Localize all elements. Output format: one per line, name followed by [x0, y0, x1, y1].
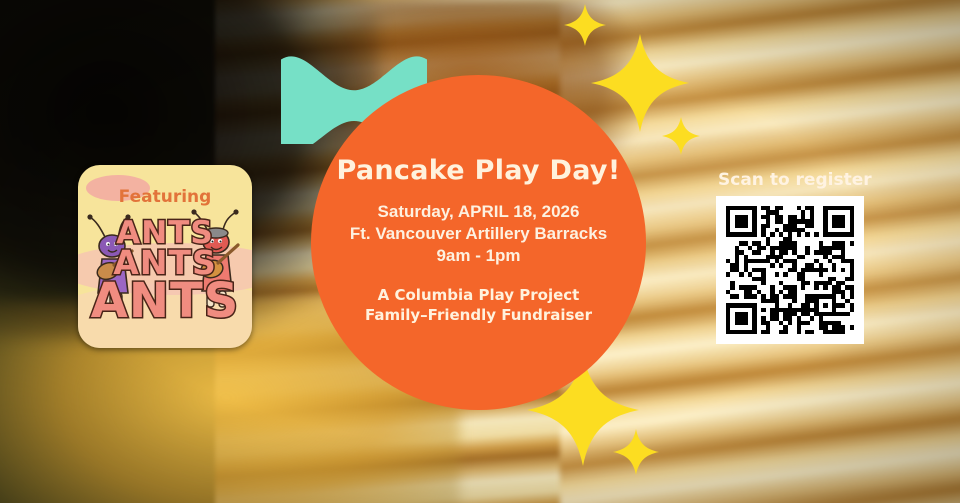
event-info-circle: Pancake Play Day! Saturday, APRIL 18, 20…	[311, 75, 646, 410]
page-title: Pancake Play Day!	[337, 157, 621, 184]
featuring-label: Featuring	[78, 187, 252, 207]
event-date: Saturday, APRIL 18, 2026	[378, 201, 580, 223]
act-line-3: ANTS	[78, 273, 252, 329]
sparkle-top-tiny-icon	[662, 117, 700, 155]
event-poster: Pancake Play Day! Saturday, APRIL 18, 20…	[0, 0, 960, 503]
scan-to-register-label: Scan to register	[718, 170, 868, 190]
event-venue: Ft. Vancouver Artillery Barracks	[350, 223, 607, 245]
qr-code-matrix	[726, 206, 854, 334]
event-tagline: Family–Friendly Fundraiser	[365, 306, 592, 326]
organizer-name: A Columbia Play Project	[378, 286, 580, 306]
event-time: 9am - 1pm	[436, 245, 520, 267]
featured-act-badge: Featuring	[78, 165, 252, 348]
qr-code[interactable]	[716, 196, 864, 344]
sparkle-bottom-small-icon	[613, 429, 659, 475]
